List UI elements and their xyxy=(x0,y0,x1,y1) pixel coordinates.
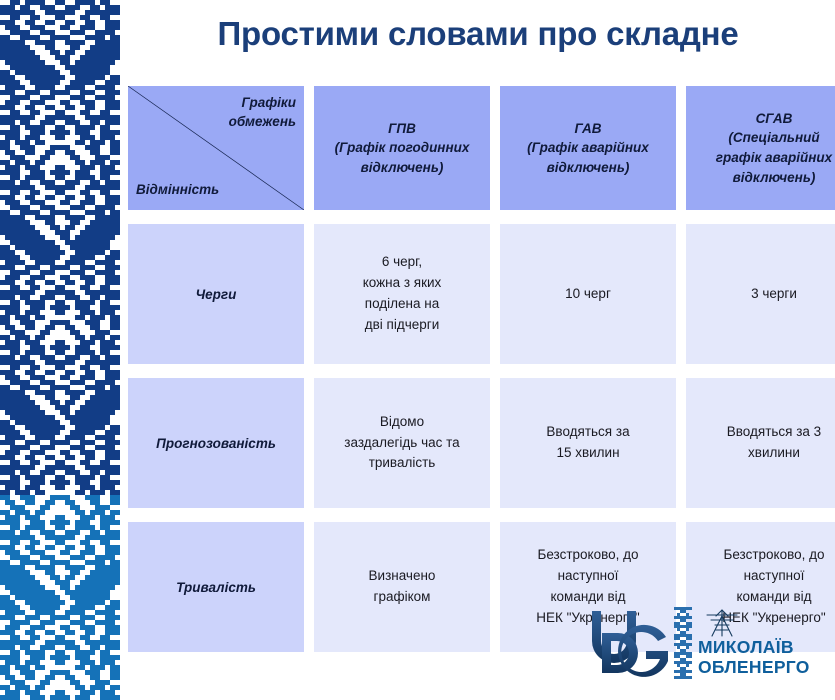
company-name-line1: МИКОЛАЇВ xyxy=(698,638,794,658)
column-header-gpv-line1: (Графік погодинних xyxy=(322,138,482,158)
vyshyvanka-pattern-icon xyxy=(0,0,120,700)
table-row: Прогнозованість Відомозаздалегідь час та… xyxy=(128,378,835,508)
corner-bottom-label: Відмінність xyxy=(136,181,219,200)
column-header-gpv-abbr: ГПВ xyxy=(322,119,482,139)
table-header-row: Графіки обмежень Відмінність ГПВ (Графік… xyxy=(128,86,835,210)
column-header-gav: ГАВ (Графік аварійних відключень) xyxy=(500,86,676,210)
column-header-gpv-line2: відключень) xyxy=(322,158,482,178)
corner-top-line2: обмежень xyxy=(229,114,296,129)
corner-header-cell: Графіки обмежень Відмінність xyxy=(128,86,304,210)
column-header-sgav-line2: графік аварійних xyxy=(694,148,835,168)
oblenergo-logo-block: МИКОЛАЇВ ОБЛЕНЕРГО xyxy=(698,608,810,677)
column-header-sgav-line3: відключень) xyxy=(694,168,835,188)
column-header-sgav-abbr: СГАВ xyxy=(694,109,835,129)
company-name-line2: ОБЛЕНЕРГО xyxy=(698,658,810,678)
table-row: Черги 6 черг,кожна з якихподілена надві … xyxy=(128,224,835,364)
column-header-sgav-line1: (Спеціальний xyxy=(694,128,835,148)
column-header-gav-abbr: ГАВ xyxy=(508,119,668,139)
cell-prohnozovanist-gav: Вводяться за15 хвилин xyxy=(500,378,676,508)
cell-cherhy-gav: 10 черг xyxy=(500,224,676,364)
corner-top-line1: Графіки xyxy=(242,95,297,110)
column-header-gav-line2: відключень) xyxy=(508,158,668,178)
embroidery-divider-icon xyxy=(674,607,692,679)
row-label-cherhy: Черги xyxy=(128,224,304,364)
column-header-gav-line1: (Графік аварійних xyxy=(508,138,668,158)
column-header-gpv: ГПВ (Графік погодинних відключень) xyxy=(314,86,490,210)
column-header-sgav: СГАВ (Спеціальний графік аварійних відкл… xyxy=(686,86,835,210)
power-pylon-icon xyxy=(702,608,742,638)
cell-prohnozovanist-gpv: Відомозаздалегідь час татривалість xyxy=(314,378,490,508)
udg-monogram-icon xyxy=(586,607,672,679)
page-title: Простими словами про складне xyxy=(128,16,828,52)
corner-top-label: Графіки обмежень xyxy=(229,94,296,132)
row-label-tryvalist: Тривалість xyxy=(128,522,304,652)
cell-cherhy-gpv: 6 черг,кожна з якихподілена надві підчер… xyxy=(314,224,490,364)
vyshyvanka-border xyxy=(0,0,120,700)
cell-tryvalist-gpv: Визначенографіком xyxy=(314,522,490,652)
cell-cherhy-sgav: 3 черги xyxy=(686,224,835,364)
footer-logo: МИКОЛАЇВ ОБЛЕНЕРГО xyxy=(586,598,835,688)
comparison-table: Графіки обмежень Відмінність ГПВ (Графік… xyxy=(118,72,835,666)
row-label-prohnozovanist: Прогнозованість xyxy=(128,378,304,508)
cell-prohnozovanist-sgav: Вводяться за 3хвилини xyxy=(686,378,835,508)
